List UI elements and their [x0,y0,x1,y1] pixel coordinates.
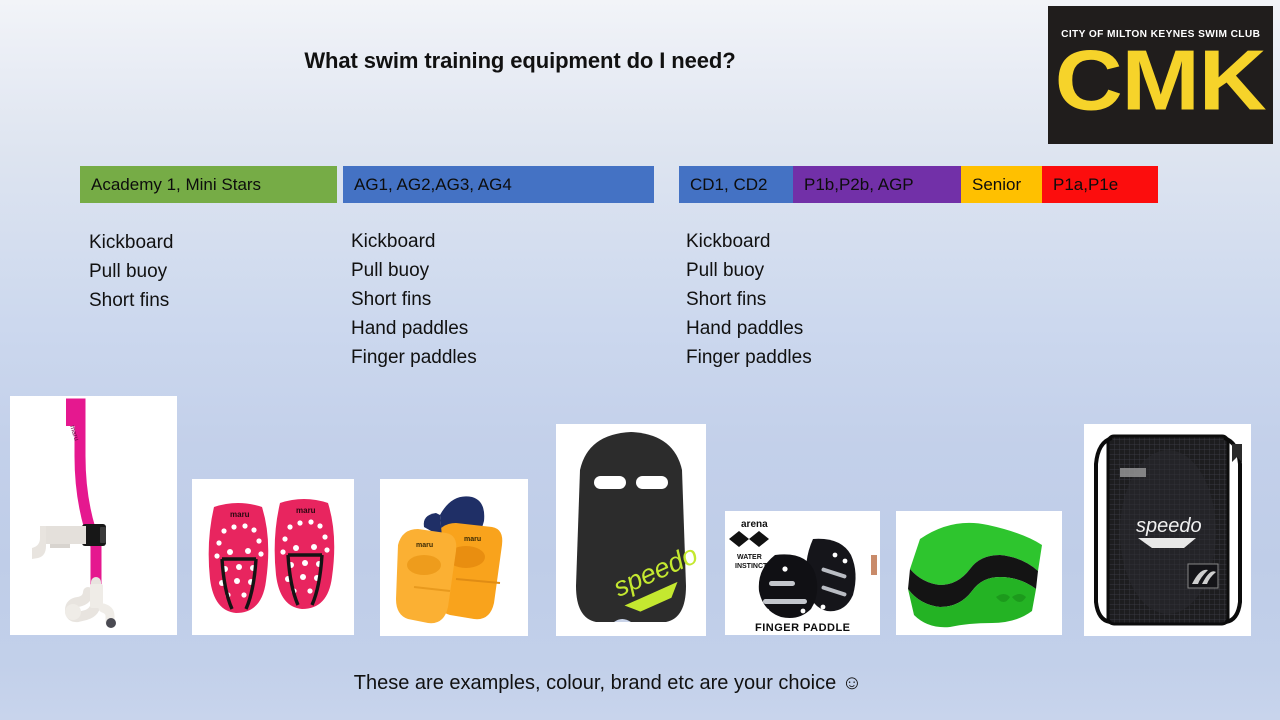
short-fins-icon: maru maru [380,479,528,636]
club-logo: CITY OF MILTON KEYNES SWIM CLUB CMK [1048,6,1273,144]
svg-text:maru: maru [416,542,433,549]
photo-kickboard: speedo [556,424,706,636]
list-item: Pull buoy [89,257,174,286]
photo-mesh-bag: speedo [1084,424,1251,636]
equipment-list-senior: Kickboard Pull buoy Short fins Hand padd… [686,227,812,372]
footer-note: These are examples, colour, brand etc ar… [0,672,1216,695]
list-item: Short fins [686,285,812,314]
list-item: Kickboard [686,227,812,256]
svg-text:maru: maru [296,506,316,515]
group-bar-label: AG1, AG2,AG3, AG4 [354,175,512,195]
group-bar-cd[interactable]: CD1, CD2 [679,166,793,203]
list-item: Kickboard [89,228,174,257]
list-item: Kickboard [351,227,477,256]
photo-pull-buoy [896,511,1062,635]
snorkel-icon: maru [10,396,177,635]
group-bar-ag[interactable]: AG1, AG2,AG3, AG4 [343,166,654,203]
group-bar-academy[interactable]: Academy 1, Mini Stars [80,166,337,203]
group-bar-label: Academy 1, Mini Stars [91,175,261,195]
group-bar-label: Senior [972,175,1021,195]
equipment-list-academy: Kickboard Pull buoy Short fins [89,228,174,315]
slide-canvas: What swim training equipment do I need? … [0,0,1280,720]
group-bar-label: CD1, CD2 [690,175,767,195]
list-item: Pull buoy [686,256,812,285]
finger-paddles-icon: arena WATER INSTINCT FINGER PADDLE [725,511,880,635]
list-item: Hand paddles [351,314,477,343]
group-bar-p1a[interactable]: P1a,P1e [1042,166,1158,203]
pull-buoy-icon [896,511,1062,635]
kickboard-icon: speedo [556,424,706,636]
photo-centre-mount-snorkel: maru [10,396,177,635]
photo-hand-paddles: maru maru [192,479,354,635]
photo-finger-paddles: arena WATER INSTINCT FINGER PADDLE [725,511,880,635]
svg-text:maru: maru [230,510,250,519]
finger-paddle-label: FINGER PADDLE [755,622,851,634]
bookmark-icon [1232,444,1242,462]
logo-mark-cmk: CMK [1055,41,1266,120]
group-bar-p1b[interactable]: P1b,P2b, AGP [793,166,961,203]
group-bar-label: P1b,P2b, AGP [804,175,914,195]
list-item: Short fins [89,286,174,315]
arena-brand-text: arena [741,519,768,530]
svg-text:maru: maru [464,536,481,543]
list-item: Finger paddles [351,343,477,372]
list-item: Hand paddles [686,314,812,343]
svg-text:speedo: speedo [1136,515,1202,537]
list-item: Pull buoy [351,256,477,285]
svg-text:WATER: WATER [737,554,762,561]
list-item: Short fins [351,285,477,314]
page-title: What swim training equipment do I need? [0,48,1040,74]
hand-paddles-icon: maru maru [192,479,354,635]
list-item: Finger paddles [686,343,812,372]
group-bar-senior[interactable]: Senior [961,166,1042,203]
group-bar-label: P1a,P1e [1053,175,1118,195]
equipment-list-ag: Kickboard Pull buoy Short fins Hand padd… [351,227,477,372]
photo-short-fins: maru maru [380,479,528,636]
mesh-bag-icon: speedo [1084,424,1251,636]
